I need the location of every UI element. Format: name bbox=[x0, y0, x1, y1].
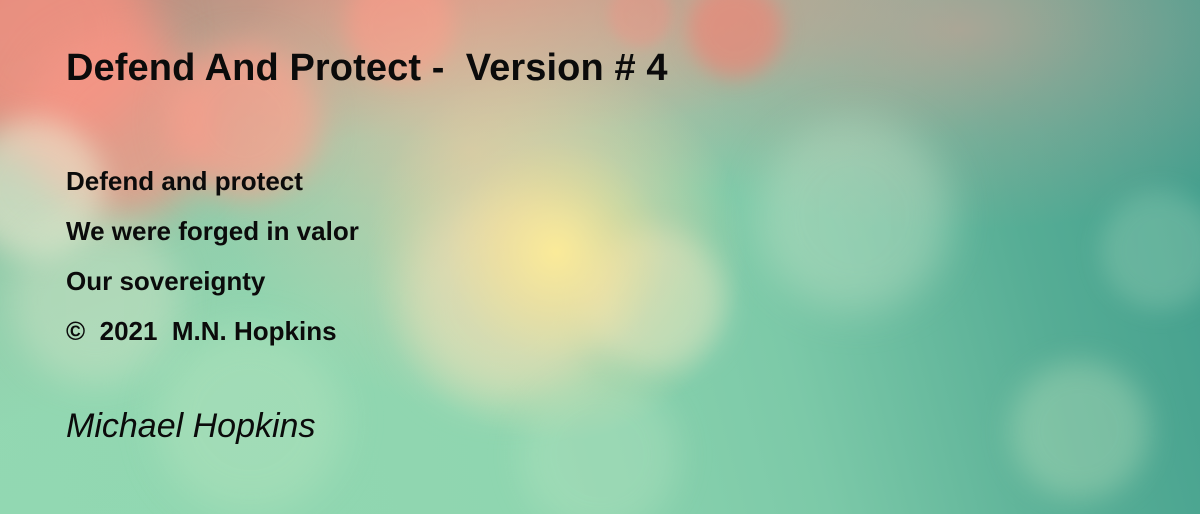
slide-canvas: Defend And Protect - Version # 4 Defend … bbox=[0, 0, 1200, 514]
lyric-line: We were forged in valor bbox=[66, 206, 359, 256]
lyric-line: Defend and protect bbox=[66, 156, 359, 206]
lyric-line: Our sovereignty bbox=[66, 256, 359, 306]
slide-text-content: Defend And Protect - Version # 4 Defend … bbox=[66, 0, 1136, 514]
copyright-line: © 2021 M.N. Hopkins bbox=[66, 306, 359, 356]
page-title: Defend And Protect - Version # 4 bbox=[66, 47, 668, 91]
lyrics-block: Defend and protect We were forged in val… bbox=[66, 156, 359, 356]
author-signature: Michael Hopkins bbox=[66, 406, 315, 447]
